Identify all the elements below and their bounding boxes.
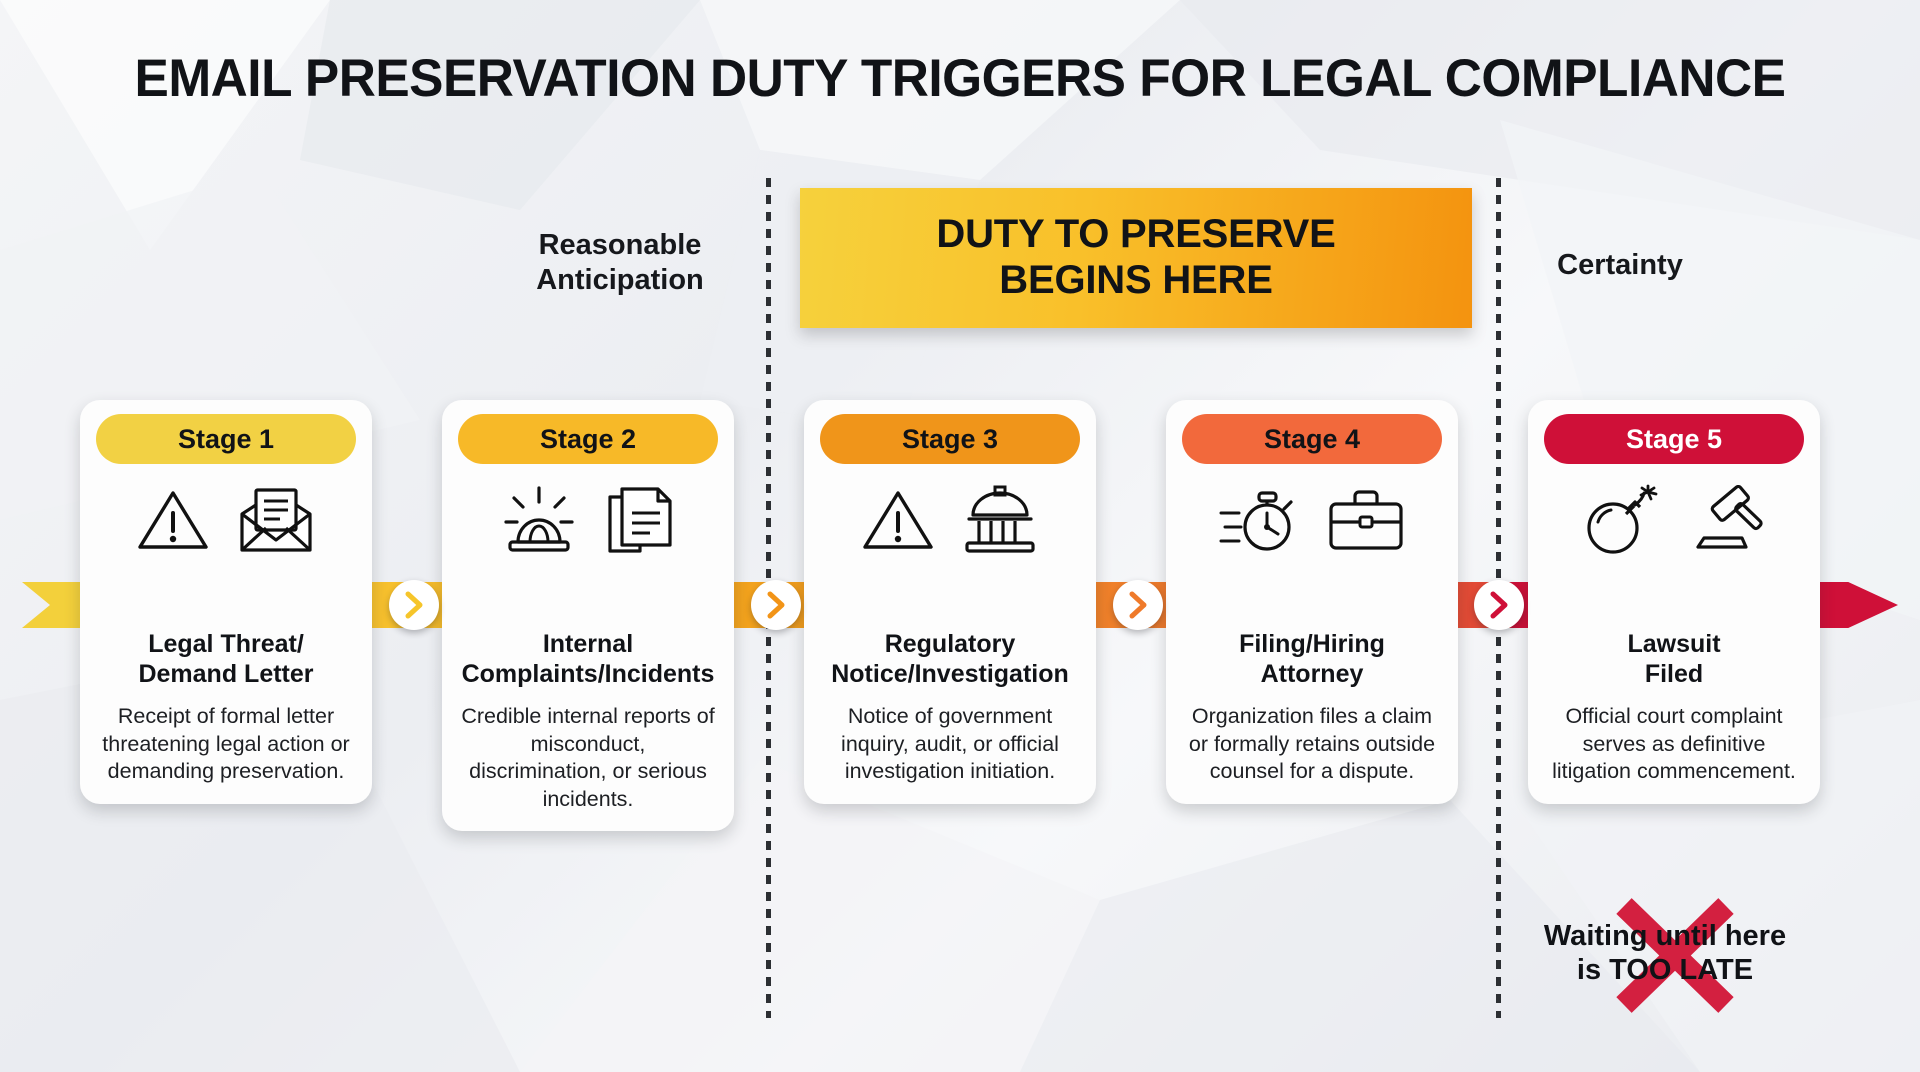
- connector-chevron-2: [751, 580, 801, 630]
- alarm-siren-icon: [500, 484, 578, 556]
- stage-badge-2: Stage 2: [458, 414, 718, 464]
- stage-badge-label-4: Stage 4: [1264, 424, 1360, 455]
- stage-icons-4: [1166, 470, 1458, 570]
- too-late-warning-text: Waiting until here is TOO LATE: [1500, 920, 1830, 987]
- duty-banner-text: DUTY TO PRESERVE BEGINS HERE: [936, 212, 1335, 303]
- stage-icons-3: [804, 470, 1096, 570]
- government-building-icon: [961, 485, 1039, 555]
- stage-title-2: Internal Complaints/Incidents: [442, 630, 734, 689]
- connector-chevron-4: [1474, 580, 1524, 630]
- stage-title-5: Lawsuit Filed: [1528, 630, 1820, 689]
- zone-label-reasonable-anticipation: Reasonable Anticipation: [500, 228, 740, 299]
- bomb-icon: [1582, 484, 1662, 556]
- stage-title-3: Regulatory Notice/Investigation: [804, 630, 1096, 689]
- stage-badge-5: Stage 5: [1544, 414, 1804, 464]
- card-bar-gap-2: [442, 570, 734, 630]
- warning-triangle-icon: [861, 487, 935, 553]
- card-bar-gap-3: [804, 570, 1096, 630]
- gavel-icon: [1688, 485, 1766, 555]
- stage-description-5: Official court complaint serves as defin…: [1528, 703, 1820, 786]
- briefcase-icon: [1327, 488, 1405, 552]
- stage-badge-label-2: Stage 2: [540, 424, 636, 455]
- connector-chevron-3: [1113, 580, 1163, 630]
- stage-card-4[interactable]: Stage 4: [1166, 400, 1458, 804]
- stage-card-5[interactable]: Stage 5: [1528, 400, 1820, 804]
- stage-description-2: Credible internal reports of misconduct,…: [442, 703, 734, 813]
- duty-to-preserve-banner: DUTY TO PRESERVE BEGINS HERE: [800, 188, 1472, 328]
- open-envelope-letter-icon: [236, 484, 316, 556]
- stage-description-3: Notice of government inquiry, audit, or …: [804, 703, 1096, 786]
- stage-description-1: Receipt of formal letter threatening leg…: [80, 703, 372, 786]
- card-bar-gap-1: [80, 570, 372, 630]
- stage-badge-1: Stage 1: [96, 414, 356, 464]
- stage-description-4: Organization files a claim or formally r…: [1166, 703, 1458, 786]
- documents-stack-icon: [604, 483, 676, 557]
- warning-triangle-icon: [136, 487, 210, 553]
- card-bar-gap-4: [1166, 570, 1458, 630]
- stage-badge-3: Stage 3: [820, 414, 1080, 464]
- connector-chevron-1: [389, 580, 439, 630]
- stopwatch-icon: [1219, 485, 1301, 555]
- stage-title-4: Filing/Hiring Attorney: [1166, 630, 1458, 689]
- stage-icons-1: [80, 470, 372, 570]
- stage-card-1[interactable]: Stage 1: [80, 400, 372, 804]
- page-title: EMAIL PRESERVATION DUTY TRIGGERS FOR LEG…: [29, 48, 1891, 109]
- stage-card-2[interactable]: Stage 2: [442, 400, 734, 831]
- too-late-warning: Waiting until here is TOO LATE: [1500, 920, 1830, 987]
- stage-icons-5: [1528, 470, 1820, 570]
- stage-icons-2: [442, 470, 734, 570]
- stage-card-3[interactable]: Stage 3: [804, 400, 1096, 804]
- stage-badge-4: Stage 4: [1182, 414, 1442, 464]
- stage-badge-label-5: Stage 5: [1626, 424, 1722, 455]
- stage-badge-label-1: Stage 1: [178, 424, 274, 455]
- card-bar-gap-5: [1528, 570, 1820, 630]
- zone-label-certainty: Certainty: [1500, 248, 1740, 283]
- infographic-canvas: EMAIL PRESERVATION DUTY TRIGGERS FOR LEG…: [0, 0, 1920, 1072]
- stage-badge-label-3: Stage 3: [902, 424, 998, 455]
- stage-title-1: Legal Threat/ Demand Letter: [80, 630, 372, 689]
